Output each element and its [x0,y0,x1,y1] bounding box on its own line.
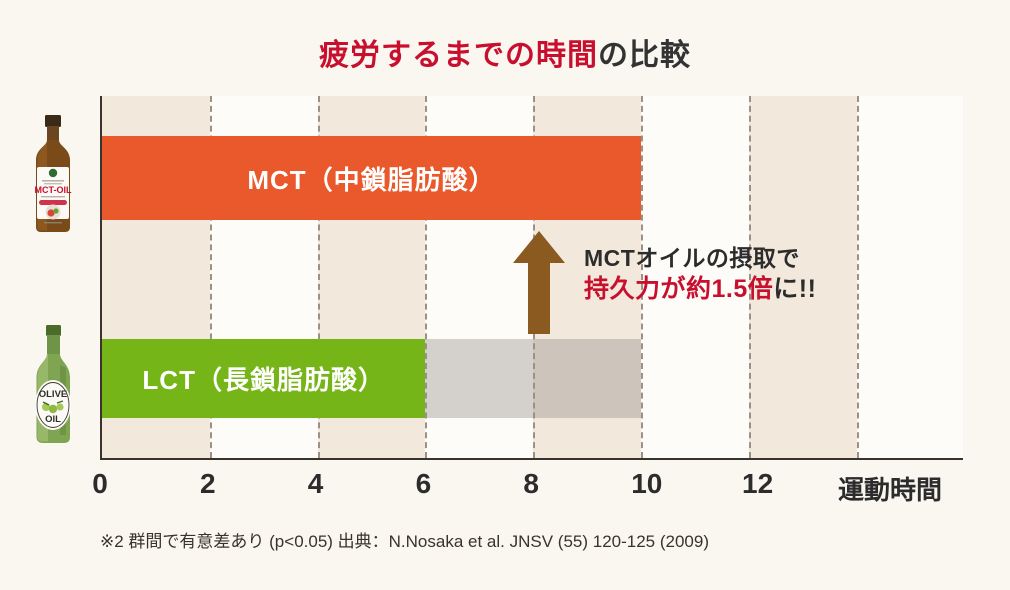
x-tick-2: 2 [200,468,216,500]
page-title-highlight: 疲労するまでの時間 [319,39,598,72]
svg-text:MCT-OIL: MCT-OIL [35,185,72,195]
svg-text:OIL: OIL [45,414,61,425]
gridline-14 [857,96,859,458]
up-arrow-icon [513,231,565,334]
bar-mct-label: MCT（中鎖脂肪酸） [247,160,495,197]
x-tick-8: 8 [523,468,539,500]
footnote-source: ※2 群間で有意差あり (p<0.05) 出典：N.Nosaka et al. … [100,527,709,552]
annotation-line-2: 持久力が約1.5倍に!! [584,273,816,306]
bar-lct[interactable]: LCT（長鎖脂肪酸） [102,339,425,418]
page-title-suffix: の比較 [598,39,691,72]
svg-text:OLIVE: OLIVE [39,389,68,400]
x-axis: 0 2 4 6 8 10 12 運動時間 [0,468,1010,508]
bar-mct[interactable]: MCT（中鎖脂肪酸） [102,136,641,220]
x-tick-6: 6 [416,468,432,500]
page-title: 疲労するまでの時間の比較 [0,30,1010,74]
x-tick-12: 12 [742,468,773,500]
x-tick-4: 4 [308,468,324,500]
bar-lct-label: LCT（長鎖脂肪酸） [142,360,385,397]
x-tick-0: 0 [92,468,108,500]
annotation-suffix: に!! [773,275,816,303]
x-axis-title: 運動時間 [838,470,942,507]
annotation-line-1: MCTオイルの摂取で [584,243,816,273]
olive-oil-bottle-image: OLIVE OIL [24,325,82,445]
lct-bar-extension [425,339,641,418]
annotation-highlight: 持久力が約1.5倍 [584,275,773,303]
uplift-annotation: MCTオイルの摂取で 持久力が約1.5倍に!! [584,243,816,306]
mct-oil-bottle-image: MCT-OIL [26,115,80,233]
x-tick-10: 10 [631,468,662,500]
